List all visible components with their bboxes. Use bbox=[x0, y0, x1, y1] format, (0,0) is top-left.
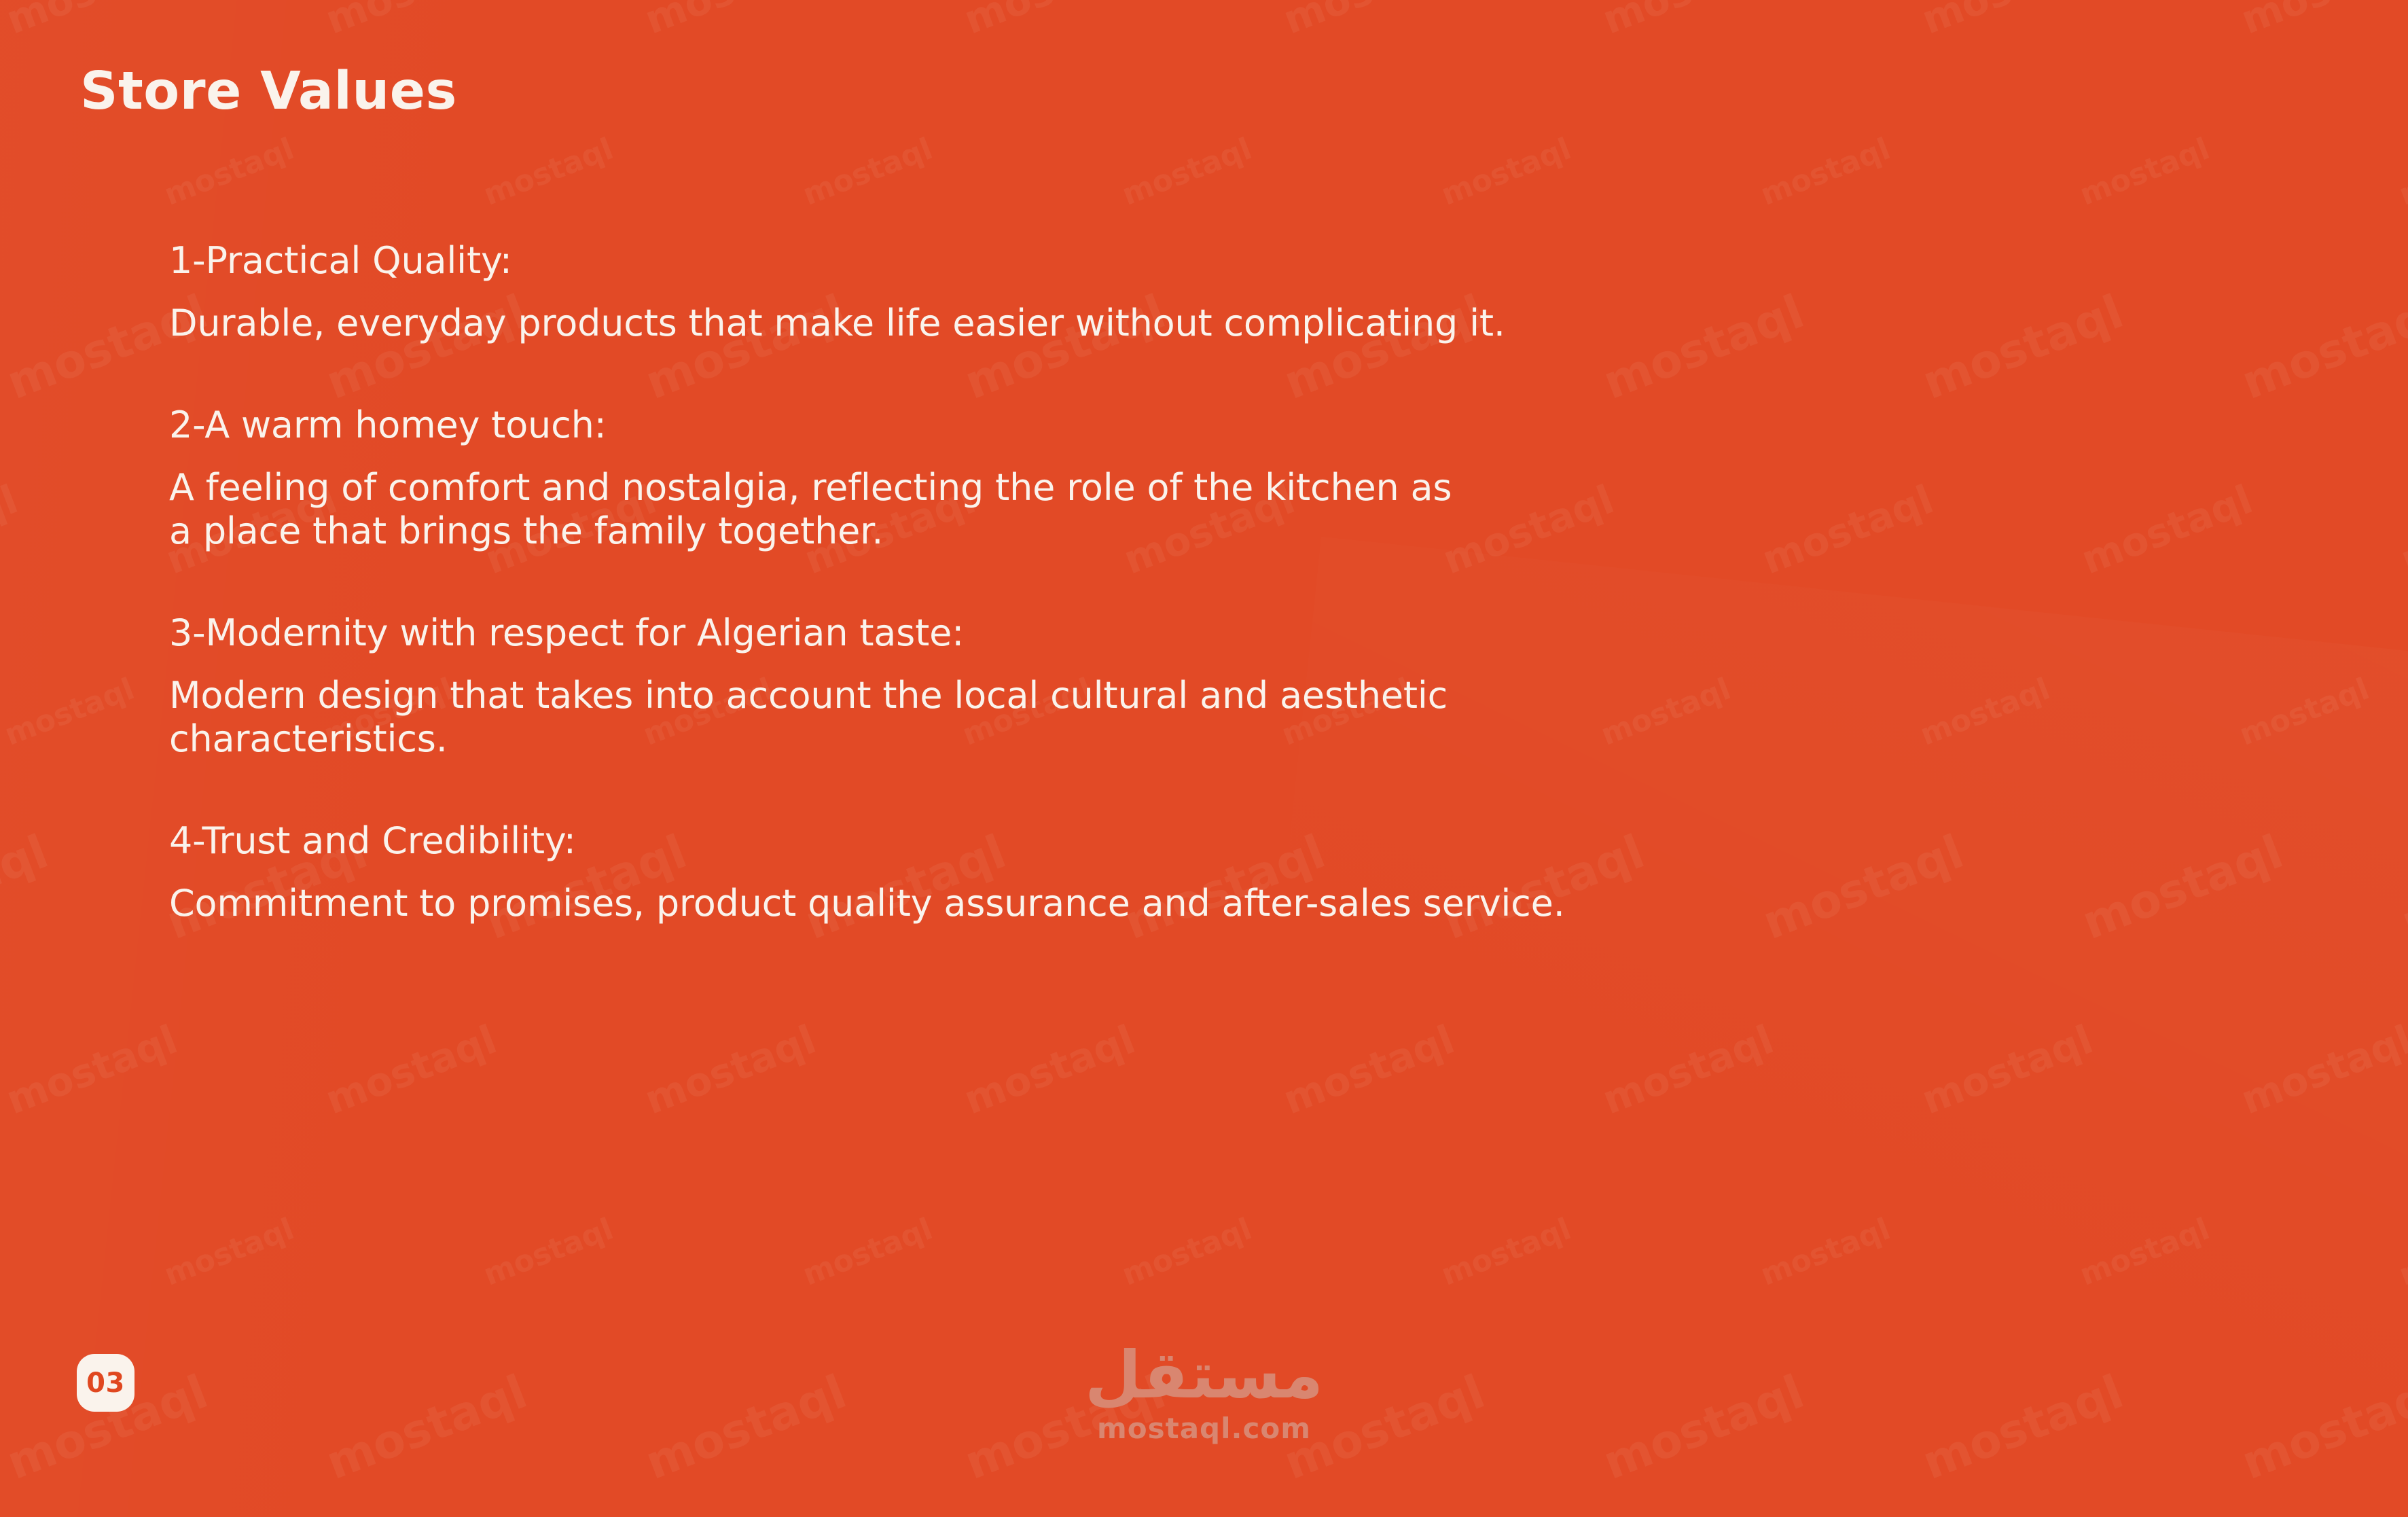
value-body-line: Durable, everyday products that make lif… bbox=[169, 302, 2261, 345]
watermark-tile: mostaql bbox=[2394, 825, 2408, 950]
watermark-tile: mostaql bbox=[1916, 1365, 2130, 1490]
watermark-tile: mostaql bbox=[319, 1016, 503, 1124]
watermark-tile: mostaql bbox=[2394, 476, 2408, 584]
watermark-tile: mostaql bbox=[479, 131, 618, 212]
value-body-line: A feeling of comfort and nostalgia, refl… bbox=[169, 466, 2261, 510]
watermark-tile: mostaql bbox=[160, 131, 299, 212]
watermark-tile: mostaql bbox=[1117, 131, 1257, 212]
watermark-tile: mostaql bbox=[1596, 1365, 1811, 1490]
value-block: 4-Trust and Credibility:Commitment to pr… bbox=[169, 819, 2261, 925]
watermark-tile: mostaql bbox=[0, 1016, 183, 1124]
value-block: 2-A warm homey touch:A feeling of comfor… bbox=[169, 404, 2261, 553]
value-body-line: Commitment to promises, product quality … bbox=[169, 882, 2261, 925]
value-body: Modern design that takes into account th… bbox=[169, 674, 2261, 762]
value-heading: 3-Modernity with respect for Algerian ta… bbox=[169, 611, 2261, 655]
watermark-tile: mostaql bbox=[958, 0, 1141, 43]
mostaql-arabic-logo-text: مستقل bbox=[1085, 1342, 1323, 1408]
watermark-tile: mostaql bbox=[958, 1365, 1172, 1490]
watermark-tile: mostaql bbox=[1277, 1365, 1492, 1490]
watermark-tile: mostaql bbox=[1756, 131, 1895, 212]
watermark-tile: mostaql bbox=[160, 1211, 299, 1292]
watermark-tile: mostaql bbox=[2075, 131, 2214, 212]
store-values-list: 1-Practical Quality:Durable, everyday pr… bbox=[169, 239, 2261, 925]
watermark-tile: mostaql bbox=[639, 0, 822, 43]
mostaql-watermark-logo: مستقل mostaql.com bbox=[0, 1342, 2408, 1443]
watermark-tile: mostaql bbox=[1756, 1211, 1895, 1292]
watermark-tile: mostaql bbox=[2394, 131, 2408, 212]
value-heading: 4-Trust and Credibility: bbox=[169, 819, 2261, 863]
page-number-label: 03 bbox=[86, 1370, 125, 1397]
watermark-tile: mostaql bbox=[2235, 0, 2408, 43]
value-body: Durable, everyday products that make lif… bbox=[169, 302, 2261, 345]
watermark-tile: mostaql bbox=[2235, 1016, 2408, 1124]
slide-canvas: mostaqlmostaqlmostaqlmostaqlmostaqlmosta… bbox=[0, 0, 2408, 1517]
watermark-tile: mostaql bbox=[1117, 1211, 1257, 1292]
watermark-tile: mostaql bbox=[1277, 0, 1460, 43]
watermark-tile: mostaql bbox=[1916, 1016, 2099, 1124]
value-block: 3-Modernity with respect for Algerian ta… bbox=[169, 611, 2261, 761]
value-block: 1-Practical Quality:Durable, everyday pr… bbox=[169, 239, 2261, 345]
watermark-tile: mostaql bbox=[1277, 1016, 1460, 1124]
watermark-tile: mostaql bbox=[0, 476, 24, 584]
value-heading: 2-A warm homey touch: bbox=[169, 404, 2261, 447]
value-body: A feeling of comfort and nostalgia, refl… bbox=[169, 466, 2261, 554]
watermark-tile: mostaql bbox=[1916, 0, 2099, 43]
value-body-line: characteristics. bbox=[169, 717, 2261, 761]
watermark-tile: mostaql bbox=[639, 1016, 822, 1124]
watermark-tile: mostaql bbox=[798, 131, 937, 212]
watermark-tile: mostaql bbox=[1596, 0, 1780, 43]
watermark-tile: mostaql bbox=[639, 1365, 853, 1490]
watermark-tile: mostaql bbox=[479, 1211, 618, 1292]
watermark-tile: mostaql bbox=[0, 0, 183, 43]
watermark-tile: mostaql bbox=[2235, 1365, 2408, 1490]
watermark-tile: mostaql bbox=[1437, 1211, 1576, 1292]
mostaql-url-text: mostaql.com bbox=[1097, 1414, 1311, 1443]
value-body-line: Modern design that takes into account th… bbox=[169, 674, 2261, 717]
watermark-tile: mostaql bbox=[1596, 1016, 1780, 1124]
watermark-tile: mostaql bbox=[2075, 1211, 2214, 1292]
value-heading: 1-Practical Quality: bbox=[169, 239, 2261, 283]
value-body-line: a place that brings the family together. bbox=[169, 510, 2261, 553]
watermark-tile: mostaql bbox=[319, 1365, 534, 1490]
watermark-tile: mostaql bbox=[798, 1211, 937, 1292]
watermark-tile: mostaql bbox=[1437, 131, 1576, 212]
watermark-tile: mostaql bbox=[0, 825, 55, 950]
watermark-tile: mostaql bbox=[319, 0, 503, 43]
watermark-tile: mostaql bbox=[958, 1016, 1141, 1124]
watermark-tile: mostaql bbox=[0, 671, 139, 752]
value-body: Commitment to promises, product quality … bbox=[169, 882, 2261, 925]
page-title: Store Values bbox=[80, 65, 457, 118]
page-number-badge: 03 bbox=[77, 1354, 134, 1412]
watermark-tile: mostaql bbox=[2394, 1211, 2408, 1292]
